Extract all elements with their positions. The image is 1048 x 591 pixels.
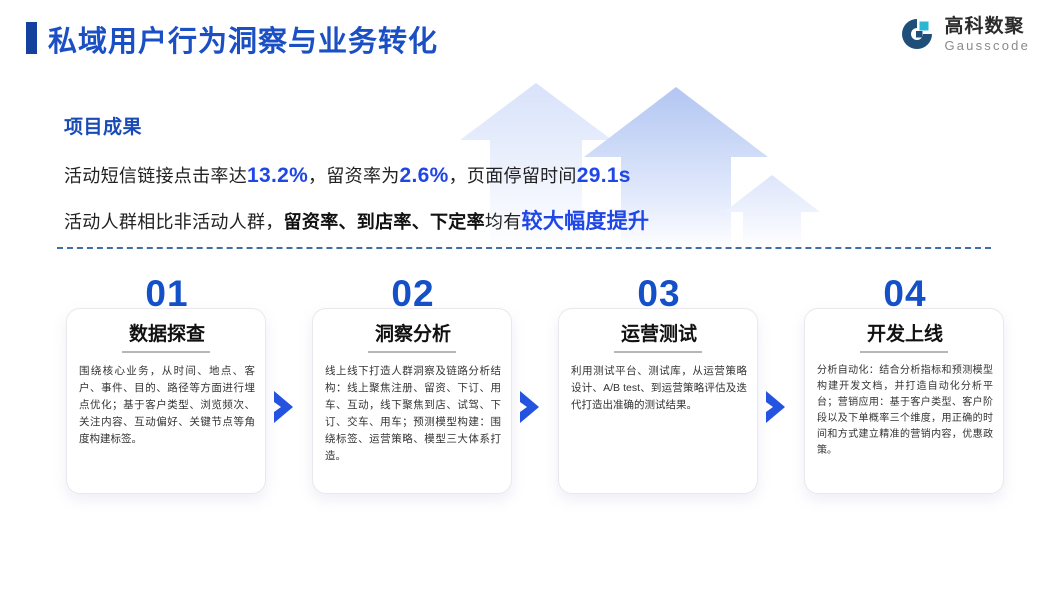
- results-l2-text1: 活动人群相比非活动人群，: [64, 212, 284, 232]
- results-heading: 项目成果: [64, 112, 142, 139]
- step-card-01[interactable]: 01 数据探查 围绕核心业务，从时间、地点、客户、事件、目的、路径等方面进行埋点…: [66, 308, 266, 494]
- chevron-right-icon-3: [764, 390, 790, 424]
- step-body: 围绕核心业务，从时间、地点、客户、事件、目的、路径等方面进行埋点优化；基于客户类…: [79, 363, 255, 448]
- step-rule: [122, 351, 210, 353]
- step-title: 数据探查: [67, 319, 267, 346]
- results-line-2: 活动人群相比非活动人群，留资率、到店率、下定率均有较大幅度提升: [64, 205, 649, 235]
- results-line-1: 活动短信链接点击率达13.2%，留资率为2.6%，页面停留时间29.1s: [64, 162, 631, 188]
- step-card-03[interactable]: 03 运营测试 利用测试平台、测试库，从运营策略设计、A/B test、到运营策…: [558, 308, 758, 494]
- step-card-02[interactable]: 02 洞察分析 线上线下打造人群洞察及链路分析结构：线上聚焦注册、留资、下订、用…: [312, 308, 512, 494]
- step-number: 01: [67, 273, 267, 315]
- title-accent-bar: [26, 22, 37, 54]
- step-body: 分析自动化：结合分析指标和预测模型构建开发文档，并打造自动化分析平台；营销应用：…: [817, 363, 993, 459]
- arrow-right-icon: [724, 175, 820, 250]
- step-rule: [614, 351, 702, 353]
- logo-name-cn: 高科数聚: [944, 17, 1030, 36]
- step-rule: [368, 351, 456, 353]
- metric-click-rate: 13.2%: [247, 164, 308, 187]
- results-l2-text2: 均有: [485, 212, 522, 232]
- metric-dwell-time: 29.1s: [577, 164, 631, 187]
- header: 私域用户行为洞察与业务转化 高科数聚 Gausscode: [0, 0, 1048, 78]
- step-number: 04: [805, 273, 1005, 315]
- step-number: 03: [559, 273, 759, 315]
- step-body: 线上线下打造人群洞察及链路分析结构：线上聚焦注册、留资、下订、用车、互动，线下聚…: [325, 363, 501, 465]
- metric-lead-rate: 2.6%: [400, 164, 449, 187]
- page-title: 私域用户行为洞察与业务转化: [48, 18, 438, 60]
- results-l1-text2: ，留资率为: [308, 166, 400, 186]
- steps-section: 01 数据探查 围绕核心业务，从时间、地点、客户、事件、目的、路径等方面进行埋点…: [0, 272, 1048, 522]
- step-body: 利用测试平台、测试库，从运营策略设计、A/B test、到运营策略评估及迭代打造…: [571, 363, 747, 414]
- step-title: 洞察分析: [313, 319, 513, 346]
- results-l2-highlight: 较大幅度提升: [522, 210, 650, 233]
- step-card-04[interactable]: 04 开发上线 分析自动化：结合分析指标和预测模型构建开发文档，并打造自动化分析…: [804, 308, 1004, 494]
- gausscode-logo-icon: [899, 16, 935, 52]
- chevron-right-icon-1: [272, 390, 298, 424]
- step-title: 运营测试: [559, 319, 759, 346]
- step-rule: [860, 351, 948, 353]
- step-number: 02: [313, 273, 513, 315]
- chevron-right-icon-2: [518, 390, 544, 424]
- logo-name-en: Gausscode: [944, 39, 1030, 52]
- brand-logo: 高科数聚 Gausscode: [899, 16, 1030, 52]
- slide: 私域用户行为洞察与业务转化 高科数聚 Gausscode 项目成果 活动短信链接…: [0, 0, 1048, 591]
- step-title: 开发上线: [805, 319, 1005, 346]
- section-divider: [57, 247, 991, 249]
- results-l2-bold: 留资率、到店率、下定率: [284, 212, 485, 232]
- results-l1-text1: 活动短信链接点击率达: [64, 166, 247, 186]
- results-l1-text3: ，页面停留时间: [449, 166, 577, 186]
